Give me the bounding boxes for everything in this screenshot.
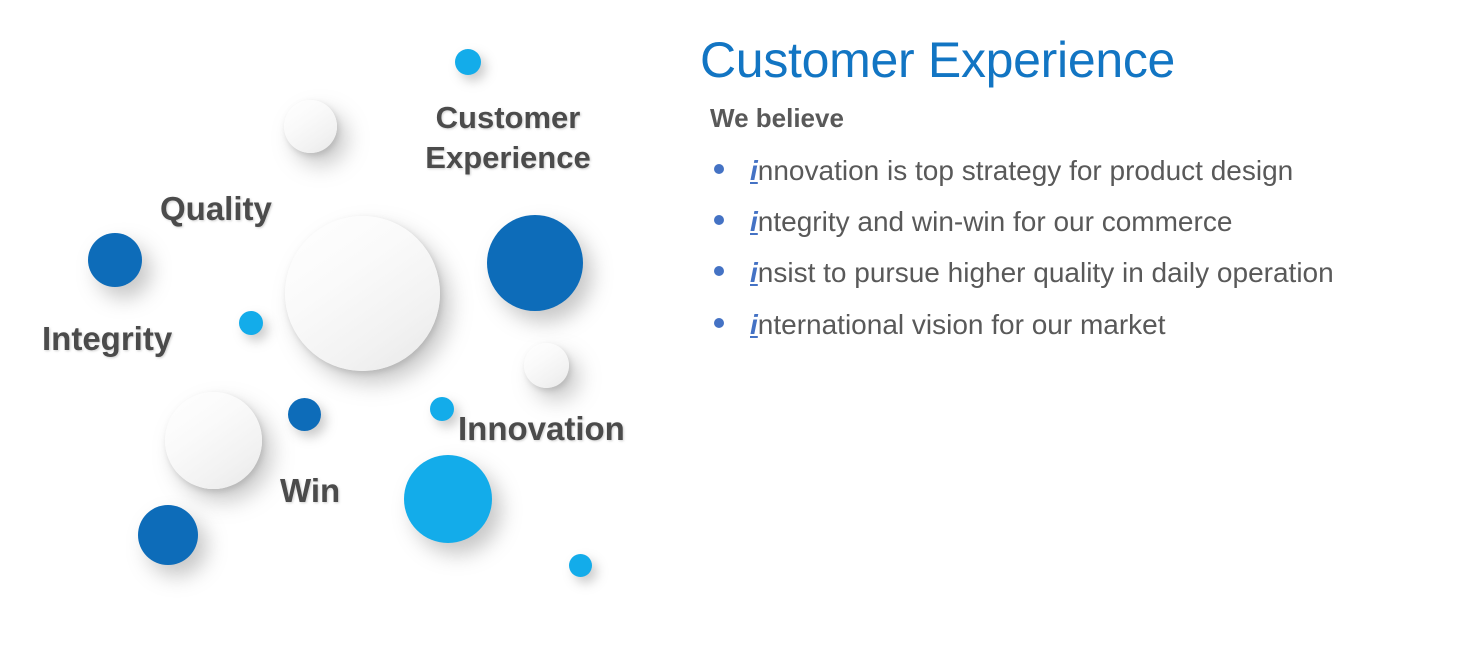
slide-canvas: Customer ExperienceQualityIntegrityInnov…	[0, 0, 1467, 646]
belief-list-item: integrity and win-win for our commerce	[700, 199, 1445, 244]
values-bubble-graphic: Customer ExperienceQualityIntegrityInnov…	[0, 0, 690, 646]
bullet-dot-icon	[714, 215, 724, 225]
dot-light-top	[455, 49, 481, 75]
dot-light-bottom	[569, 554, 592, 577]
bubble-label-innovation: Innovation	[458, 408, 688, 450]
bubble-white-mid	[165, 392, 262, 489]
bubble-white-large	[285, 216, 440, 371]
bullet-lead-letter: i	[750, 155, 758, 186]
bullet-text: nternational vision for our market	[758, 309, 1166, 340]
bubble-label-quality: Quality	[160, 188, 320, 230]
belief-list-item: innovation is top strategy for product d…	[700, 148, 1445, 193]
bubble-blue-dark-left	[88, 233, 142, 287]
bubble-white-top	[284, 100, 337, 153]
bullet-text: nnovation is top strategy for product de…	[758, 155, 1293, 186]
bubble-label-integrity: Integrity	[42, 318, 222, 360]
belief-list-item: international vision for our market	[700, 302, 1445, 347]
bubble-blue-dark-bottom	[138, 505, 198, 565]
bubble-white-right	[524, 343, 569, 388]
bubble-blue-light-big	[404, 455, 492, 543]
dot-light-left	[239, 311, 263, 335]
belief-list-item: insist to pursue higher quality in daily…	[700, 250, 1445, 295]
bullet-dot-icon	[714, 266, 724, 276]
bubble-blue-dark-small	[288, 398, 321, 431]
belief-list: innovation is top strategy for product d…	[700, 148, 1445, 347]
bubble-blue-dark-big	[487, 215, 583, 311]
bubble-label-customer-experience: Customer Experience	[398, 98, 618, 177]
bullet-lead-letter: i	[750, 309, 758, 340]
bullet-text: ntegrity and win-win for our commerce	[758, 206, 1233, 237]
dot-light-mid	[430, 397, 454, 421]
bullet-lead-letter: i	[750, 257, 758, 288]
bullet-dot-icon	[714, 164, 724, 174]
bubble-label-win: Win	[280, 470, 380, 512]
bullet-dot-icon	[714, 318, 724, 328]
page-title: Customer Experience	[700, 34, 1445, 87]
bullet-text: nsist to pursue higher quality in daily …	[758, 257, 1334, 288]
bullet-lead-letter: i	[750, 206, 758, 237]
subtitle: We believe	[710, 103, 1445, 134]
text-panel: Customer Experience We believe innovatio…	[700, 34, 1445, 353]
